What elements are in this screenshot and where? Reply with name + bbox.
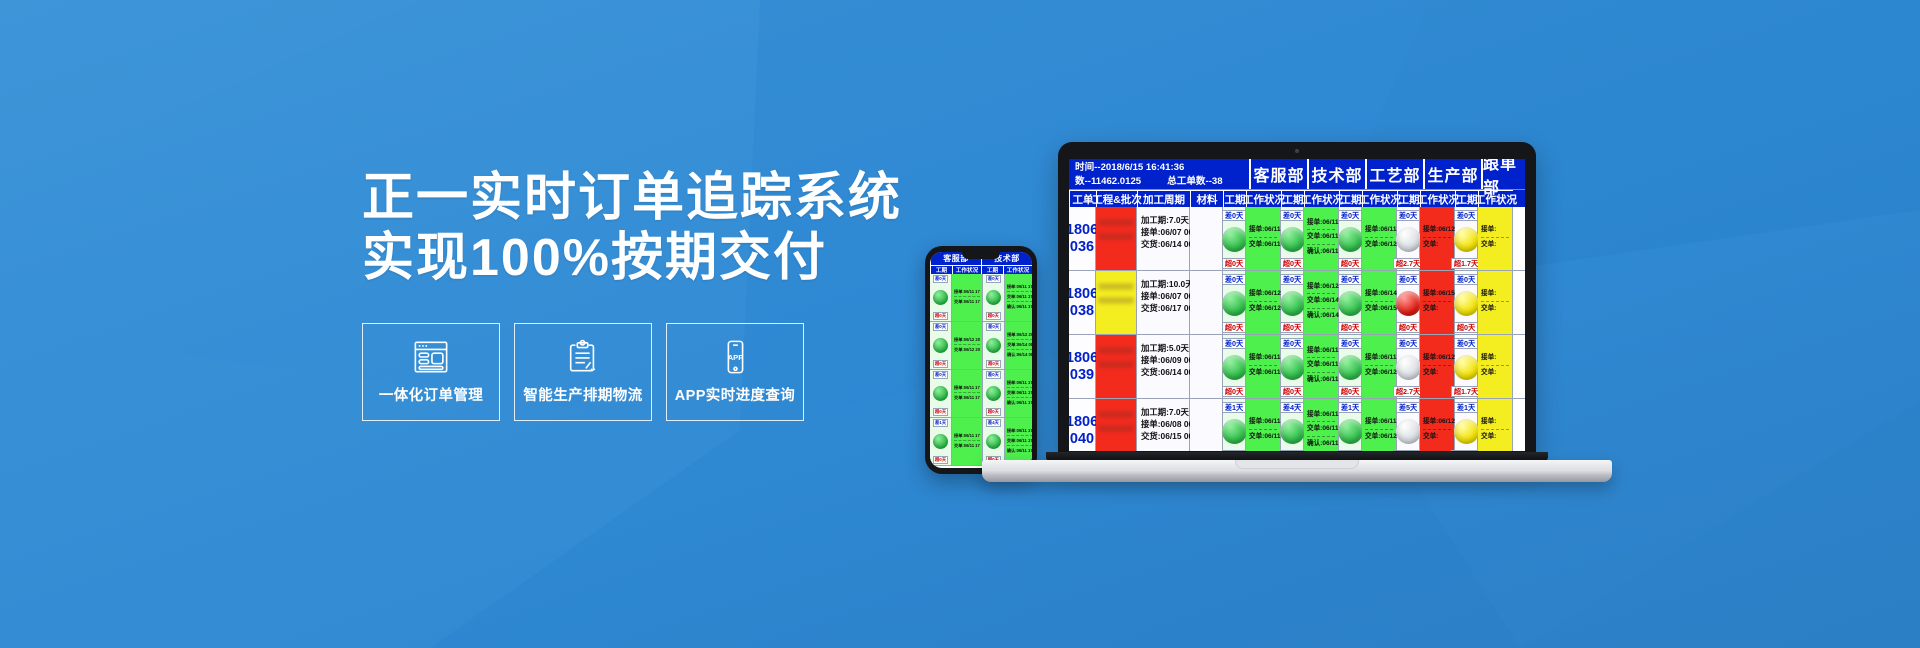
cell-duration-工艺部: 差1天超0天 [1339,399,1362,451]
tag-overdue: 超0.7天 [1451,450,1481,451]
status-line: 接单:06/12 09 [1423,418,1451,429]
tag-overdue: 超2.7天 [1393,386,1423,397]
tag-overdue: 超0天 [1338,322,1362,333]
status-line: 接单:06/12 09 [1423,354,1451,365]
meta-count: 数--11462.0125 [1075,175,1141,189]
phone-cell-duration-cs: 差0天超0天 [930,370,952,417]
status-line: 接单:06/11 17 [1249,226,1277,237]
phone-cell-status-tech: 接单:06/12 20交单:06/14 08确认:06/14 08 [1005,322,1032,369]
tag-overdue: 超0天 [1280,258,1304,269]
cell-status-生产部: 接单:06/12 09交单: [1420,399,1455,451]
status-line: 交单: [1423,305,1451,315]
phone-cell-status-cs: 接单:06/11 17交单:06/11 17 [952,418,983,465]
status-line: 接单:06/11 17 [1307,411,1335,422]
cell-project-batch: XXXXXXXXXXXXXX [1096,399,1137,451]
status-line: 接单:06/15 16 [1423,290,1451,301]
dept-header-technical: 技术部 [1307,159,1365,189]
status-line: 交单:06/11 17 [1307,425,1335,436]
phone-row-container: 差0天超0天接单:06/11 17交单:06/11 17差0天超0天接单:06/… [930,274,1032,468]
dashboard-meta: 时间--2018/6/15 16:41:36 数--11462.0125 总工单… [1069,159,1249,189]
tag-remaining: 差0天 [1454,338,1478,349]
clipboard-schedule-icon [562,339,604,375]
cell-duration-工艺部: 差0天超0天 [1339,271,1362,334]
phone-status-indicator-green [986,290,1001,305]
status-line: 接单:06/12 09 [1423,226,1451,237]
phone-tag-remaining: 差4天 [986,419,1001,427]
phone-table-row[interactable]: 差0天超0天接单:06/12 20交单:06/12 20差0天超0天接单:06/… [930,322,1032,370]
phone-status-indicator-green [986,434,1001,449]
mobile-app-icon: APP [714,339,756,375]
dept-header-process: 工艺部 [1365,159,1423,189]
phone-tag-overdue: 超0天 [986,408,1001,416]
phone-status-line: 接单:06/12 20 [1007,332,1032,340]
cell-duration-跟单部: 差0天超1.7天 [1455,335,1478,398]
status-indicator-green [1280,355,1305,380]
phone-tag-overdue: 超0天 [986,312,1001,320]
cell-status-技术部: 接单:06/11 17交单:06/11 17确认:06/11 17 [1304,207,1339,270]
feature-box-app-progress[interactable]: APP APP实时进度查询 [666,323,804,421]
cell-status-生产部: 接单:06/12 09交单: [1420,207,1455,270]
tag-overdue: 超1.7天 [1451,258,1481,269]
phone-cell-status-tech: 接单:06/11 17交单:06/11 17确认:06/11 17 [1005,274,1032,321]
tag-overdue: 超0天 [1396,322,1420,333]
cell-status-客服部: 接单:06/11 17交单:06/11 17 [1246,399,1281,451]
phone-cell-duration-cs: 差0天超0天 [930,322,952,369]
status-line: 接单:06/11 17 [1249,354,1277,365]
status-indicator-yellow [1454,419,1479,444]
cell-status-客服部: 接单:06/11 17交单:06/11 17 [1246,335,1281,398]
cell-duration-客服部: 差0天超0天 [1223,207,1246,270]
phone-status-indicator-green [933,290,948,305]
cell-status-客服部: 接单:06/11 17交单:06/11 17 [1246,207,1281,270]
feature-label-app-progress: APP实时进度查询 [675,384,795,405]
phone-status-indicator-green [933,434,948,449]
status-line: 交单: [1423,369,1451,379]
tag-remaining: 差0天 [1396,210,1420,221]
laptop-lid: 时间--2018/6/15 16:41:36 数--11462.0125 总工单… [1058,142,1536,462]
phone-status-line: 交单:06/11 17 [1007,294,1032,302]
status-line: 接单:06/11 17 [1365,354,1393,365]
cell-process-cycle: 加工期:5.0天接单:06/09 00交货:06/14 00 [1137,335,1190,398]
dashboard-titlebar: 时间--2018/6/15 16:41:36 数--11462.0125 总工单… [1069,159,1525,190]
tag-remaining: 差1天 [1338,402,1362,413]
tag-overdue: 超0天 [1222,386,1246,397]
cell-status-跟单部: 接单:交单: [1478,207,1513,270]
status-line: 接单:06/12 20 [1307,283,1335,294]
phone-body: 客服部 技术部 工期 工作状况 工期 工作状况 差0天超0天接单:06/11 1… [925,246,1037,474]
phone-cell-status-tech: 接单:06/11 17交单:06/11 17确认:06/11 17 [1005,370,1032,417]
phone-cell-duration-tech: 差0天超0天 [983,370,1005,417]
status-line: 交单:06/12 09 [1365,433,1393,443]
status-line: 交单: [1481,305,1509,315]
phone-tag-overdue: 超0天 [933,360,948,368]
tag-remaining: 差0天 [1222,338,1246,349]
cell-work-order: 1806036 [1069,207,1096,270]
headline-line-1: 正一实时订单追踪系统 [362,168,902,228]
tag-overdue: 超0天 [1222,258,1246,269]
status-line: 接单:06/11 17 [1365,226,1393,237]
cell-material [1190,271,1223,334]
tag-overdue: 超0天 [1280,322,1304,333]
status-line: 交单:06/12 20 [1249,305,1277,315]
status-indicator-green [1280,227,1305,252]
phone-dashboard: 客服部 技术部 工期 工作状况 工期 工作状况 差0天超0天接单:06/11 1… [930,252,1032,468]
cell-status-技术部: 接单:06/11 17交单:06/11 17确认:06/11 17 [1304,335,1339,398]
cell-duration-工艺部: 差0天超0天 [1339,207,1362,270]
status-line: 接单: [1481,354,1509,365]
status-line: 接单:06/11 17 [1365,418,1393,429]
cell-status-工艺部: 接单:06/14 08交单:06/15 16 [1362,271,1397,334]
status-indicator-green [1280,291,1305,316]
phone-cell-duration-tech: 差0天超0天 [983,322,1005,369]
cell-project-batch: XXXXXXXXXXXXXX [1096,207,1137,270]
status-indicator-grey [1396,419,1421,444]
cell-duration-工艺部: 差0天超0天 [1339,335,1362,398]
phone-status-line: 接单:06/11 17 [1007,284,1032,292]
cell-duration-技术部: 差0天超0天 [1281,335,1304,398]
cell-duration-生产部: 差5天超1.7天 [1397,399,1420,451]
status-line: 接单: [1481,418,1509,429]
tag-remaining: 差1天 [1454,402,1478,413]
tag-remaining: 差0天 [1338,274,1362,285]
tag-overdue: 超0天 [1338,386,1362,397]
cell-status-跟单部: 接单:交单: [1478,399,1513,451]
col-status-proc: 工作状况 [1362,190,1397,207]
cell-duration-生产部: 差0天超2.7天 [1397,207,1420,270]
cell-material [1190,207,1223,270]
status-line: 交单: [1481,241,1509,251]
cell-work-order: 1806040 [1069,399,1096,451]
dashboard-header: 时间--2018/6/15 16:41:36 数--11462.0125 总工单… [1069,159,1525,207]
status-line: 接单:06/11 17 [1307,347,1335,358]
tag-overdue: 超0天 [1338,258,1362,269]
phone-cell-duration-cs: 差0天超0天 [930,274,952,321]
tag-remaining: 差1天 [1222,402,1246,413]
tag-overdue: 超0天 [1338,450,1362,451]
status-line: 确认:06/11 17 [1307,440,1335,450]
phone-status-indicator-green [986,338,1001,353]
tag-remaining: 差0天 [1338,338,1362,349]
phone-cell-duration-tech: 差0天超0天 [983,274,1005,321]
status-line: 交单: [1481,369,1509,379]
tag-overdue: 超0天 [1280,386,1304,397]
table-row[interactable]: 1806039XXXXXXXXXXXXXX加工期:5.0天接单:06/09 00… [1069,335,1525,399]
laptop-base-notch [1235,460,1359,469]
cell-status-跟单部: 接单:交单: [1478,271,1513,334]
phone-screen[interactable]: 客服部 技术部 工期 工作状况 工期 工作状况 差0天超0天接单:06/11 1… [930,252,1032,468]
status-indicator-green [1222,355,1247,380]
cell-status-跟单部: 接单:交单: [1478,335,1513,398]
phone-status-line: 交单:06/14 08 [1007,342,1032,350]
hero-copy: 正一实时订单追踪系统 实现100%按期交付 一体化订单管理 [362,168,902,421]
phone-status-line: 交单:06/11 17 [954,443,980,450]
feature-row: 一体化订单管理 智能生产排期物流 APP A [362,323,902,421]
status-line: 交单:06/12 09 [1365,369,1393,379]
dept-header-customer-service: 客服部 [1249,159,1307,189]
status-line: 交单:06/11 17 [1249,433,1277,443]
cell-process-cycle: 加工期:7.0天接单:06/08 00交货:06/15 00 [1137,399,1190,451]
status-line: 交单:06/14 08 [1307,297,1335,308]
cell-status-生产部: 接单:06/15 16交单: [1420,271,1455,334]
table-row[interactable]: 1806038XXXXXXXXXXXXXX加工期:10.0天接单:06/07 0… [1069,271,1525,335]
cell-duration-跟单部: 差1天超0.7天 [1455,399,1478,451]
status-line: 确认:06/14 08 [1307,312,1335,322]
phone-status-line: 交单:06/11 17 [1007,438,1032,446]
status-indicator-yellow [1454,291,1479,316]
cell-process-cycle: 加工期:10.0天接单:06/07 00交货:06/17 00 [1137,271,1190,334]
phone-table-row[interactable]: 差0天超0天接单:06/11 17交单:06/11 17差0天超0天接单:06/… [930,370,1032,418]
cell-status-工艺部: 接单:06/11 17交单:06/12 09 [1362,399,1397,451]
tag-overdue: 超0天 [1454,322,1478,333]
phone-mockup: 客服部 技术部 工期 工作状况 工期 工作状况 差0天超0天接单:06/11 1… [925,246,1037,474]
phone-status-line: 接单:06/12 20 [954,337,980,345]
cell-status-技术部: 接单:06/11 17交单:06/11 17确认:06/11 17 [1304,399,1339,451]
cell-duration-客服部: 差1天超0天 [1223,399,1246,451]
feature-label-order-management: 一体化订单管理 [379,384,483,405]
order-tracking-dashboard: 时间--2018/6/15 16:41:36 数--11462.0125 总工单… [1069,159,1525,451]
phone-tag-overdue: 超0天 [933,456,948,464]
status-indicator-yellow [1454,355,1479,380]
cell-material [1190,399,1223,451]
feature-label-production-schedule: 智能生产排期物流 [523,384,642,405]
device-mockups: 客服部 技术部 工期 工作状况 工期 工作状况 差0天超0天接单:06/11 1… [0,0,1920,648]
tag-remaining: 差0天 [1280,274,1304,285]
status-line: 接单: [1481,290,1509,301]
tag-overdue: 超2.7天 [1393,258,1423,269]
col-status-prod: 工作状况 [1420,190,1455,207]
cell-duration-技术部: 差0天超0天 [1281,271,1304,334]
phone-tag-remaining: 差0天 [933,371,948,379]
cell-duration-客服部: 差0天超0天 [1223,271,1246,334]
cell-work-order: 1806038 [1069,271,1096,334]
status-indicator-green [1338,291,1363,316]
phone-status-line: 接单:06/11 17 [954,385,980,393]
status-line: 交单:06/11 17 [1249,241,1277,251]
tag-remaining: 差0天 [1396,274,1420,285]
phone-subheader: 工期 工作状况 工期 工作状况 [930,265,1032,274]
status-line: 接单:06/11 17 [1249,418,1277,429]
cell-status-工艺部: 接单:06/11 17交单:06/12 09 [1362,207,1397,270]
status-indicator-green [1338,419,1363,444]
status-indicator-green [1222,291,1247,316]
status-line: 交单: [1423,433,1451,443]
status-indicator-grey [1396,355,1421,380]
tag-remaining: 差0天 [1454,210,1478,221]
phone-status-line: 确认:06/14 08 [1007,352,1032,359]
cell-duration-跟单部: 差0天超1.7天 [1455,207,1478,270]
status-indicator-grey [1396,227,1421,252]
phone-sub-duration-cs: 工期 [930,265,952,274]
phone-tag-overdue: 超0天 [986,360,1001,368]
phone-status-line: 接单:06/11 17 [954,289,980,297]
tag-remaining: 差0天 [1222,210,1246,221]
cell-duration-客服部: 差0天超0天 [1223,335,1246,398]
app-icon-text: APP [728,352,744,361]
tag-remaining: 差4天 [1280,402,1304,413]
phone-tag-remaining: 差0天 [986,323,1001,331]
headline-line-2: 实现100%按期交付 [362,228,902,288]
status-line: 交单: [1481,433,1509,443]
cell-duration-技术部: 差4天超0天 [1281,399,1304,451]
cell-process-cycle: 加工期:7.0天接单:06/07 00交货:06/14 00 [1137,207,1190,270]
phone-cell-duration-tech: 差4天超0天 [983,418,1005,465]
phone-cell-status-cs: 接单:06/11 17交单:06/11 17 [952,274,983,321]
status-line: 交单:06/12 09 [1365,241,1393,251]
phone-status-indicator-green [933,386,948,401]
cell-project-batch: XXXXXXXXXXXXXX [1096,335,1137,398]
status-line: 交单: [1423,241,1451,251]
phone-cell-status-cs: 接单:06/11 17交单:06/11 17 [952,370,983,417]
status-indicator-green [1338,355,1363,380]
cell-duration-生产部: 差0天超0天 [1397,271,1420,334]
phone-tag-remaining: 差0天 [933,275,948,283]
cell-duration-跟单部: 差0天超0天 [1455,271,1478,334]
status-line: 接单: [1481,226,1509,237]
status-indicator-green [1222,227,1247,252]
phone-status-line: 接单:06/11 17 [1007,380,1032,388]
status-line: 接单:06/12 20 [1249,290,1277,301]
tag-overdue: 超0天 [1280,450,1304,451]
status-line: 交单:06/11 17 [1249,369,1277,379]
meta-total-orders: 总工单数--38 [1167,175,1222,189]
cell-duration-技术部: 差0天超0天 [1281,207,1304,270]
cell-project-batch: XXXXXXXXXXXXXX [1096,271,1137,334]
status-line: 交单:06/11 17 [1307,361,1335,372]
status-indicator-green [1222,419,1247,444]
tag-remaining: 差0天 [1338,210,1362,221]
cell-status-技术部: 接单:06/12 20交单:06/14 08确认:06/14 08 [1304,271,1339,334]
tag-remaining: 差0天 [1454,274,1478,285]
meta-time: 时间--2018/6/15 16:41:36 [1075,161,1245,175]
phone-status-line: 确认:06/11 17 [1007,400,1032,407]
cell-duration-生产部: 差0天超2.7天 [1397,335,1420,398]
phone-cell-status-cs: 接单:06/12 20交单:06/12 20 [952,322,983,369]
phone-tag-remaining: 差0天 [986,275,1001,283]
col-status-cs: 工作状况 [1246,190,1281,207]
status-line: 交单:06/11 17 [1307,233,1335,244]
phone-sub-duration-tech: 工期 [981,265,1003,274]
status-indicator-red [1396,291,1421,316]
table-row[interactable]: 1806040XXXXXXXXXXXXXX加工期:7.0天接单:06/08 00… [1069,399,1525,451]
phone-status-line: 交单:06/11 17 [954,395,980,402]
phone-tag-overdue: 超0天 [933,408,948,416]
phone-tag-remaining: 差0天 [933,323,948,331]
status-line: 接单:06/11 17 [1307,219,1335,230]
phone-sub-status-tech: 工作状况 [1003,265,1032,274]
table-row[interactable]: 1806036XXXXXXXXXXXXXX加工期:7.0天接单:06/07 00… [1069,207,1525,271]
status-indicator-green [1280,419,1305,444]
tag-remaining: 差0天 [1280,338,1304,349]
cell-work-order: 1806039 [1069,335,1096,398]
status-line: 确认:06/11 17 [1307,376,1335,386]
col-project-batch: 工程&批次 [1096,190,1137,207]
tag-remaining: 差0天 [1396,338,1420,349]
feature-box-production-schedule[interactable]: 智能生产排期物流 [514,323,652,421]
phone-status-line: 交单:06/11 17 [954,299,980,306]
dashboard-row-container: 1806036XXXXXXXXXXXXXX加工期:7.0天接单:06/07 00… [1069,207,1525,451]
phone-table-row[interactable]: 差1天超0天接单:06/11 17交单:06/11 17差4天超0天接单:06/… [930,418,1032,466]
dept-header-followup: 跟单部 [1481,159,1525,189]
laptop-screen[interactable]: 时间--2018/6/15 16:41:36 数--11462.0125 总工单… [1069,159,1525,451]
status-indicator-green [1338,227,1363,252]
dashboard-subheader: 工单 工程&批次 加工周期 材料 工期 工作状况 工期 工作状况 工期 工作状况… [1069,190,1525,207]
cell-status-工艺部: 接单:06/11 17交单:06/12 09 [1362,335,1397,398]
col-status-follow: 工作状况 [1478,190,1513,207]
phone-status-indicator-green [933,338,948,353]
phone-status-line: 确认:06/11 17 [1007,304,1032,311]
tag-overdue: 超1.7天 [1451,386,1481,397]
phone-notch [962,252,1000,259]
status-line: 交单:06/15 16 [1365,305,1393,315]
dept-header-production: 生产部 [1423,159,1481,189]
col-process-cycle: 加工周期 [1137,190,1190,207]
phone-tag-remaining: 差1天 [933,419,948,427]
tag-remaining: 差0天 [1222,274,1246,285]
phone-tag-overdue: 超0天 [933,312,948,320]
phone-status-line: 交单:06/12 20 [954,347,980,354]
phone-sub-status-cs: 工作状况 [952,265,981,274]
cell-status-生产部: 接单:06/12 09交单: [1420,335,1455,398]
phone-status-line: 接单:06/11 17 [1007,428,1032,436]
phone-status-line: 交单:06/11 17 [1007,390,1032,398]
phone-tag-remaining: 差0天 [986,371,1001,379]
status-indicator-yellow [1454,227,1479,252]
phone-table-row[interactable]: 差0天超0天接单:06/11 17交单:06/11 17差0天超0天接单:06/… [930,274,1032,322]
status-line: 确认:06/11 17 [1307,248,1335,258]
tag-remaining: 差5天 [1396,402,1420,413]
status-line: 接单:06/14 08 [1365,290,1393,301]
cell-status-客服部: 接单:06/12 20交单:06/12 20 [1246,271,1281,334]
webcam-icon [1295,149,1299,153]
tag-overdue: 超1.7天 [1393,450,1423,451]
phone-status-line: 接单:06/11 17 [954,433,980,441]
tag-overdue: 超0天 [1222,322,1246,333]
col-status-tech: 工作状况 [1304,190,1339,207]
laptop-mockup: 时间--2018/6/15 16:41:36 数--11462.0125 总工单… [1058,142,1536,462]
laptop-base [982,460,1612,482]
feature-box-order-management[interactable]: 一体化订单管理 [362,323,500,421]
dashboard-layout-icon [410,339,452,375]
tag-overdue: 超0天 [1222,450,1246,451]
tag-remaining: 差0天 [1280,210,1304,221]
cell-material [1190,335,1223,398]
phone-cell-status-tech: 接单:06/11 17交单:06/11 17确认:06/11 17 [1005,418,1032,465]
col-material: 材料 [1190,190,1223,207]
phone-status-indicator-green [986,386,1001,401]
phone-cell-duration-cs: 差1天超0天 [930,418,952,465]
phone-status-line: 确认:06/11 17 [1007,448,1032,455]
